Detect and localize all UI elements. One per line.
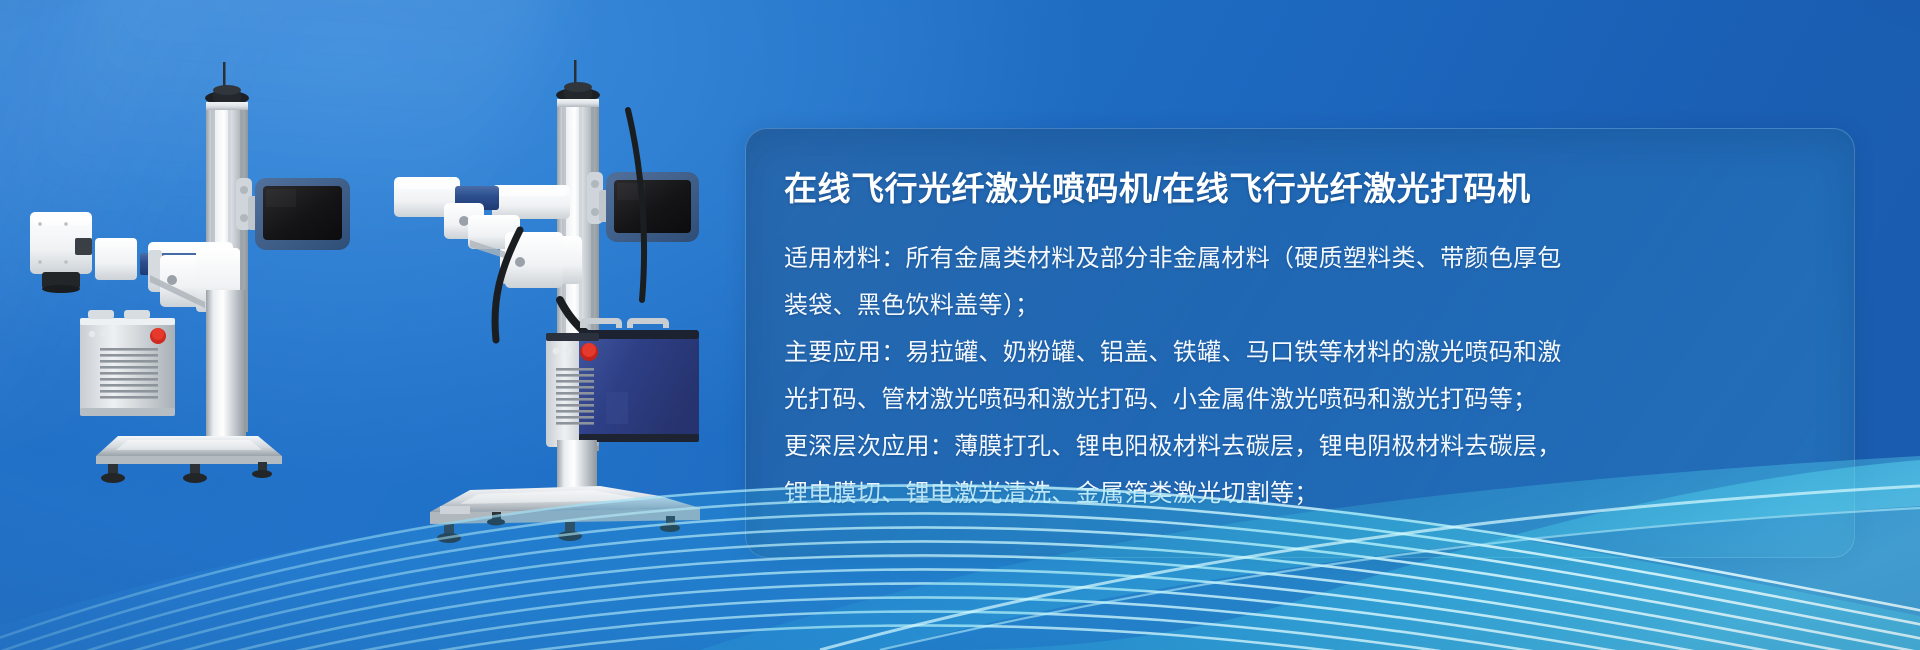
description-line: 适用材料：所有金属类材料及部分非金属材料（硬质塑料类、带颜色厚包 [784, 235, 1820, 282]
machine-left [30, 62, 350, 483]
description-line: 装袋、黑色饮料盖等）； [784, 282, 1820, 329]
description-line: 锂电膜切、锂电激光清洗、金属箔类激光切割等； [784, 470, 1820, 517]
product-illustration-svg [0, 0, 760, 620]
product-info-panel: 在线飞行光纤激光喷码机/在线飞行光纤激光打码机 适用材料：所有金属类材料及部分非… [745, 128, 1855, 558]
description-line: 更深层次应用：薄膜打孔、锂电阳极材料去碳层，锂电阴极材料去碳层， [784, 423, 1820, 470]
description-line: 光打码、管材激光喷码和激光打码、小金属件激光喷码和激光打码等； [784, 376, 1820, 423]
machine-right [394, 60, 700, 543]
product-images [0, 0, 760, 620]
page-title: 在线飞行光纤激光喷码机/在线飞行光纤激光打码机 [784, 169, 1820, 209]
machine-left-laser-source [80, 310, 175, 416]
machine-right-screen [606, 172, 699, 242]
machine-right-base [430, 486, 700, 543]
machine-right-laser-source [546, 318, 699, 447]
machine-left-base [96, 436, 282, 483]
machine-left-screen [255, 178, 350, 250]
description-line: 主要应用：易拉罐、奶粉罐、铝盖、铁罐、马口铁等材料的激光喷码和激 [784, 329, 1820, 376]
product-banner: 在线飞行光纤激光喷码机/在线飞行光纤激光打码机 适用材料：所有金属类材料及部分非… [0, 0, 1920, 650]
product-description: 适用材料：所有金属类材料及部分非金属材料（硬质塑料类、带颜色厚包 装袋、黑色饮料… [784, 235, 1820, 517]
